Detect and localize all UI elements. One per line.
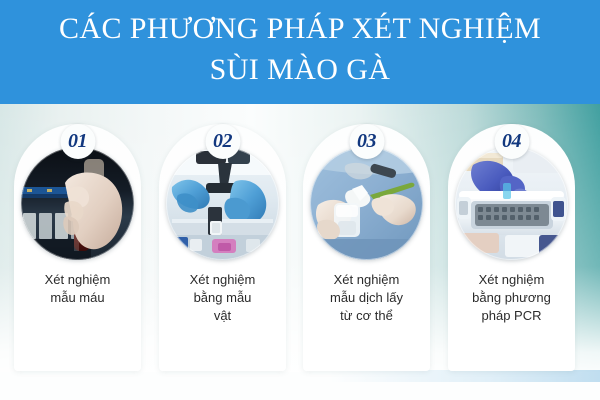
page-title: CÁC PHƯƠNG PHÁP XÉT NGHIỆM SÙI MÀO GÀ xyxy=(0,8,600,90)
step-4-caption: Xét nghiệm bằng phương pháp PCR xyxy=(452,271,571,325)
step-card-1[interactable]: 01 Xét nghiệm mẫu máu xyxy=(14,124,141,371)
step-4-number: 04 xyxy=(494,124,529,159)
step-card-2[interactable]: 02 Xét nghiệm bằng mẫu vật xyxy=(159,124,286,371)
step-1-number-badge: 01 xyxy=(60,124,95,159)
infographic-poster: CÁC PHƯƠNG PHÁP XÉT NGHIỆM SÙI MÀO GÀ xyxy=(0,0,600,400)
step-3-number-badge: 03 xyxy=(349,124,384,159)
step-4-photo xyxy=(455,147,568,260)
background-sheen xyxy=(330,370,600,382)
step-2-number: 02 xyxy=(205,124,240,159)
step-1-photo xyxy=(21,147,134,260)
step-1-number: 01 xyxy=(60,124,95,159)
step-2-photo xyxy=(166,147,279,260)
step-card-4[interactable]: 04 Xét nghiệm bằng phương pháp PCR xyxy=(448,124,575,371)
step-3-photo xyxy=(310,147,423,260)
step-3-number: 03 xyxy=(349,124,384,159)
header-banner: CÁC PHƯƠNG PHÁP XÉT NGHIỆM SÙI MÀO GÀ xyxy=(0,0,600,104)
step-2-caption: Xét nghiệm bằng mẫu vật xyxy=(163,271,282,325)
step-2-number-badge: 02 xyxy=(205,124,240,159)
step-card-3[interactable]: 03 Xét nghiệm mẫu dịch lấy từ cơ thể xyxy=(303,124,430,371)
step-1-caption: Xét nghiệm mẫu máu xyxy=(18,271,137,307)
step-3-caption: Xét nghiệm mẫu dịch lấy từ cơ thể xyxy=(307,271,426,325)
step-4-number-badge: 04 xyxy=(494,124,529,159)
